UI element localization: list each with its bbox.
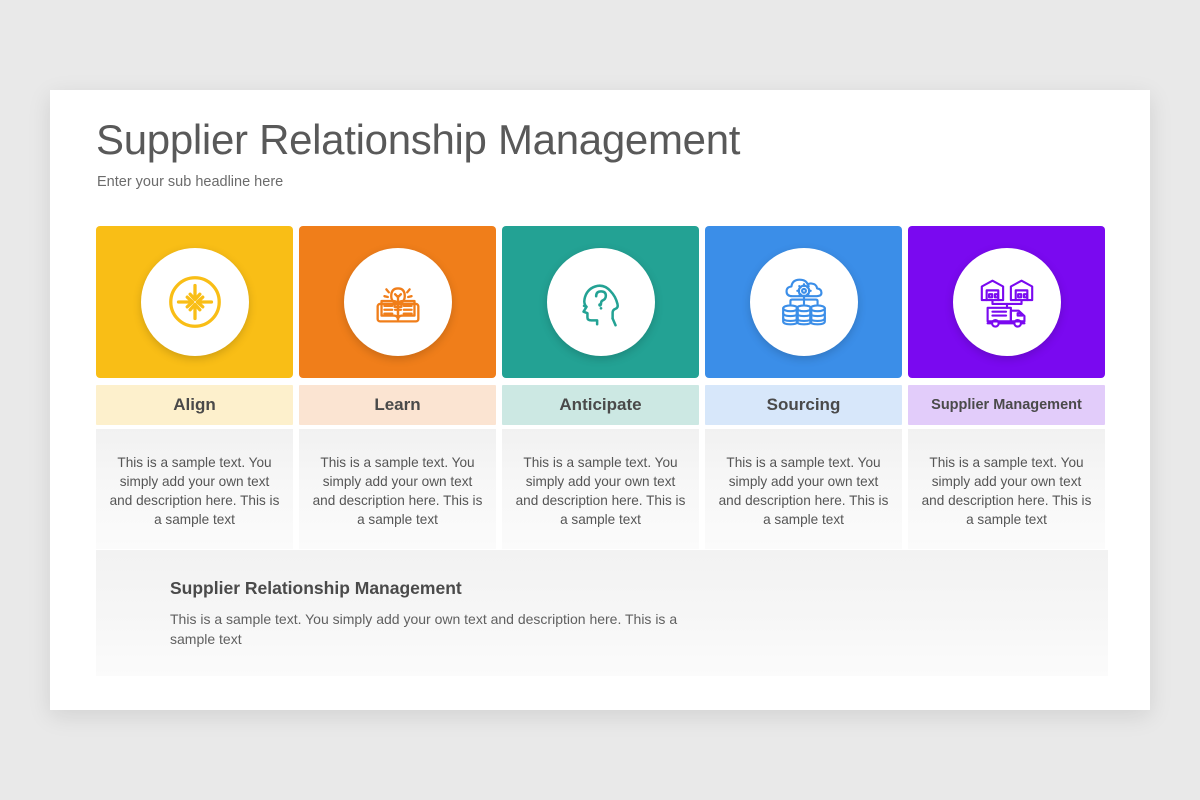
card-icon-panel-sourcing xyxy=(705,226,902,378)
card-icon-panel-learn xyxy=(299,226,496,378)
head-question-icon xyxy=(570,271,632,333)
bottom-panel-title: Supplier Relationship Management xyxy=(170,578,1108,599)
bottom-summary-panel: Supplier Relationship Management This is… xyxy=(96,550,1108,676)
card-align[interactable]: Align This is a sample text. You simply … xyxy=(96,226,293,549)
card-icon-panel-supplier-management xyxy=(908,226,1105,378)
icon-disc-supplier-management xyxy=(953,248,1061,356)
card-description-learn: This is a sample text. You simply add yo… xyxy=(299,429,496,549)
bottom-panel-description: This is a sample text. You simply add yo… xyxy=(170,609,690,649)
card-label-sourcing: Sourcing xyxy=(705,385,902,425)
card-supplier-management[interactable]: Supplier Management This is a sample tex… xyxy=(908,226,1105,549)
card-anticipate[interactable]: Anticipate This is a sample text. You si… xyxy=(502,226,699,549)
card-description-sourcing: This is a sample text. You simply add yo… xyxy=(705,429,902,549)
card-description-supplier-management: This is a sample text. You simply add yo… xyxy=(908,429,1105,549)
icon-disc-align xyxy=(141,248,249,356)
icon-disc-anticipate xyxy=(547,248,655,356)
card-icon-panel-anticipate xyxy=(502,226,699,378)
align-arrows-icon xyxy=(164,271,226,333)
card-description-align: This is a sample text. You simply add yo… xyxy=(96,429,293,549)
icon-disc-sourcing xyxy=(750,248,858,356)
card-label-learn: Learn xyxy=(299,385,496,425)
card-label-supplier-management: Supplier Management xyxy=(908,385,1105,425)
slide-canvas: Supplier Relationship Management Enter y… xyxy=(50,90,1150,710)
page-subtitle: Enter your sub headline here xyxy=(97,174,283,190)
warehouse-truck-icon xyxy=(976,271,1038,333)
icon-disc-learn xyxy=(344,248,452,356)
page-title: Supplier Relationship Management xyxy=(96,116,740,164)
card-learn[interactable]: Learn This is a sample text. You simply … xyxy=(299,226,496,549)
card-label-anticipate: Anticipate xyxy=(502,385,699,425)
book-lightbulb-icon xyxy=(367,271,429,333)
card-sourcing[interactable]: Sourcing This is a sample text. You simp… xyxy=(705,226,902,549)
card-row: Align This is a sample text. You simply … xyxy=(96,226,1108,549)
card-label-align: Align xyxy=(96,385,293,425)
card-description-anticipate: This is a sample text. You simply add yo… xyxy=(502,429,699,549)
card-icon-panel-align xyxy=(96,226,293,378)
cloud-database-gear-icon xyxy=(773,271,835,333)
